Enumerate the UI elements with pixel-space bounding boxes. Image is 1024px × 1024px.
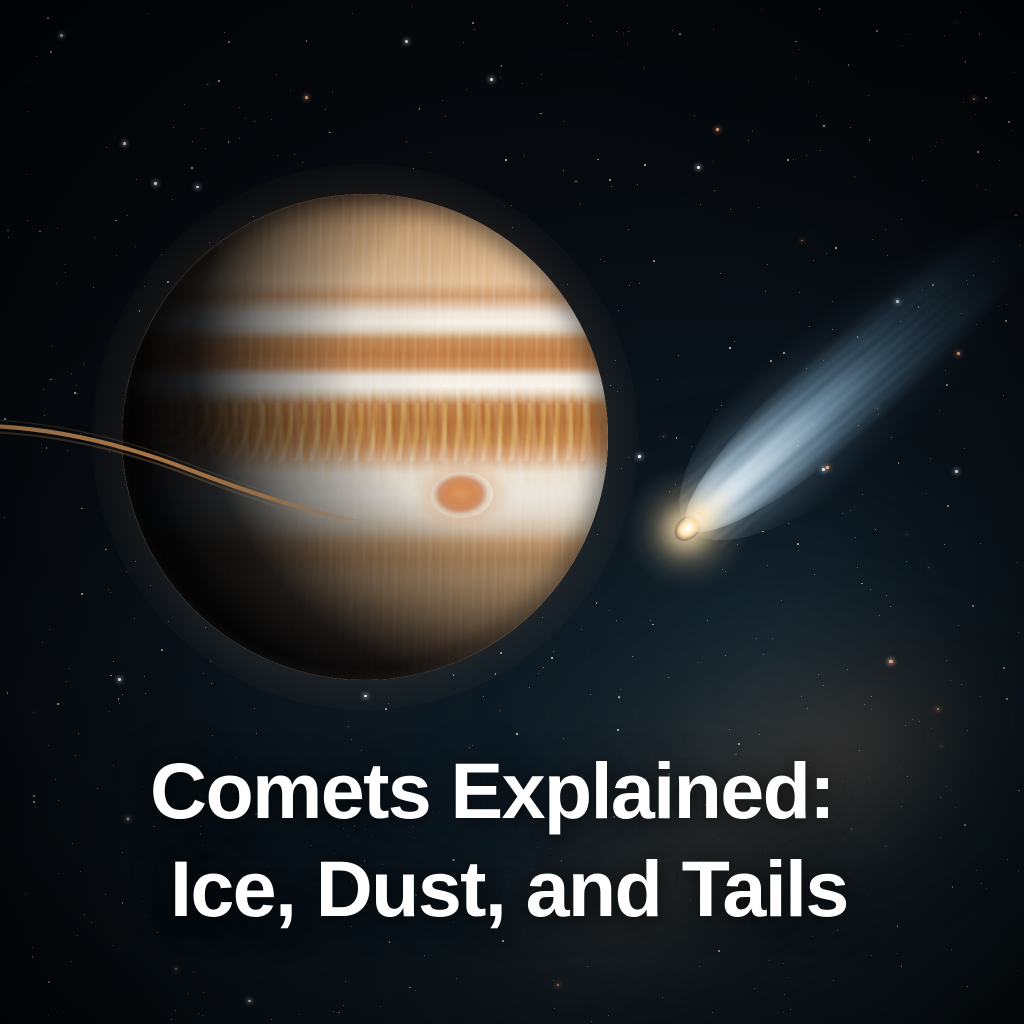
title-line-2: Ice, Dust, and Tails: [170, 840, 910, 938]
space-poster: Comets Explained: Ice, Dust, and Tails: [0, 0, 1024, 1024]
title-block: Comets Explained: Ice, Dust, and Tails: [150, 742, 910, 938]
title-line-1: Comets Explained:: [150, 742, 910, 840]
